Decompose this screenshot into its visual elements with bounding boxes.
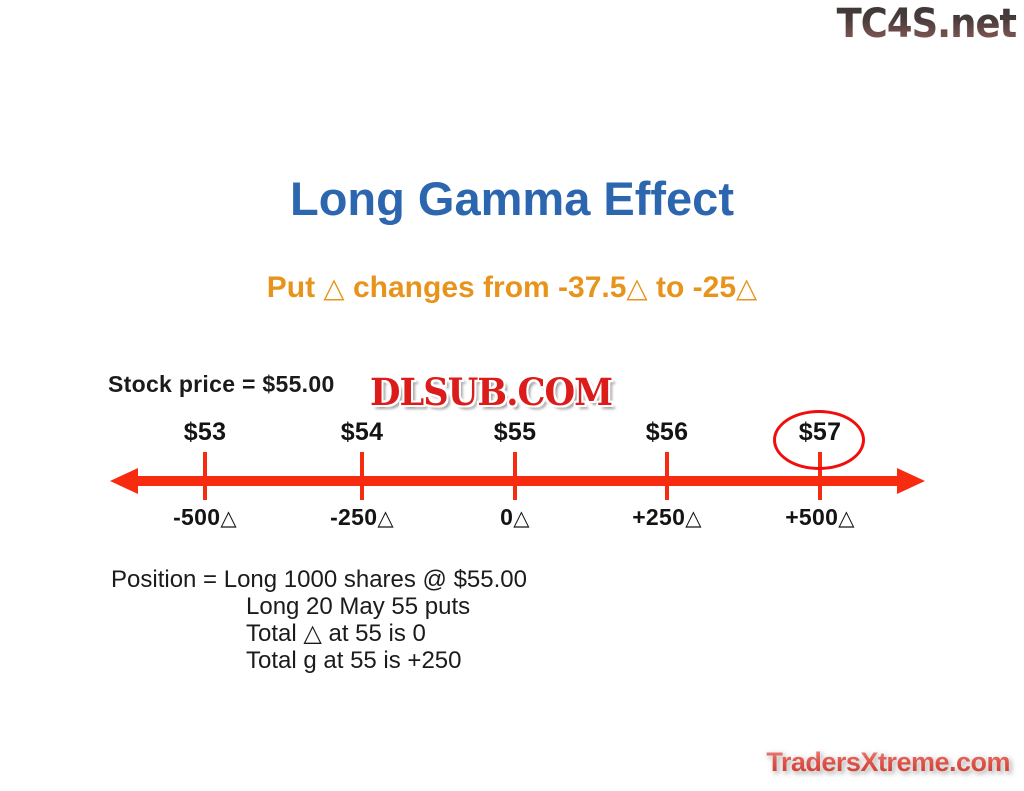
highlight-ellipse: [773, 410, 865, 470]
tick-mark: [360, 452, 364, 500]
tick-group: $54-250△: [282, 420, 442, 529]
tick-mark: [665, 452, 669, 500]
bottom-watermark: TradersXtreme.com: [766, 747, 1010, 778]
delta-symbol-icon: △: [377, 505, 394, 530]
tick-price-label: $55: [435, 420, 595, 445]
tick-delta-label: 0△: [435, 506, 595, 529]
position-notes: Position = Long 1000 shares @ $55.00Long…: [111, 566, 527, 674]
tick-delta-value: -500: [173, 504, 220, 530]
stock-price-label: Stock price = $55.00: [108, 371, 335, 398]
tick-price-label: $54: [282, 420, 442, 445]
overlay-watermark: DLSUB.COM: [370, 370, 612, 414]
tick-mark: [513, 452, 517, 500]
tick-delta-label: +250△: [587, 506, 747, 529]
tick-price-label: $53: [125, 420, 285, 445]
arrow-right-icon: [897, 468, 925, 494]
position-note-line: Total △ at 55 is 0: [111, 620, 527, 647]
delta-symbol-icon: △: [513, 505, 530, 530]
position-note-line: Position = Long 1000 shares @ $55.00: [111, 566, 527, 593]
tick-mark: [203, 452, 207, 500]
tick-delta-value: 0: [500, 504, 513, 530]
tick-group: $550△: [435, 420, 595, 529]
delta-symbol-icon: △: [838, 505, 855, 530]
tick-delta-value: -250: [330, 504, 377, 530]
tick-delta-label: -250△: [282, 506, 442, 529]
tick-delta-label: +500△: [740, 506, 900, 529]
tick-group: $53-500△: [125, 420, 285, 529]
tick-group: $56+250△: [587, 420, 747, 529]
position-note-line: Total g at 55 is +250: [111, 647, 527, 674]
tick-delta-value: +250: [632, 504, 685, 530]
tick-delta-label: -500△: [125, 506, 285, 529]
tick-price-label: $56: [587, 420, 747, 445]
position-note-line: Long 20 May 55 puts: [111, 593, 527, 620]
delta-symbol-icon: △: [220, 505, 237, 530]
delta-symbol-icon: △: [685, 505, 702, 530]
tick-delta-value: +500: [785, 504, 838, 530]
